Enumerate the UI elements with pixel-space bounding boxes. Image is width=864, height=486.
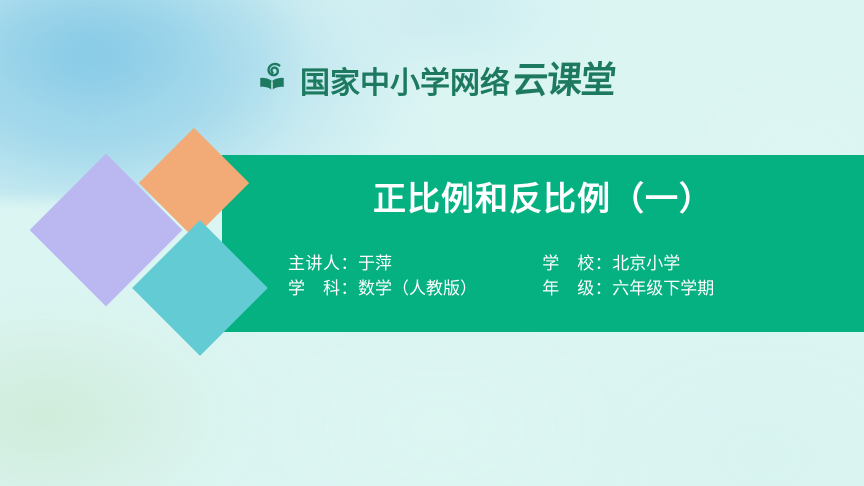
logo-text-script: 云课堂 [511,50,618,104]
book-wave-icon [253,59,291,97]
watercolor-wash-top-left-accent [0,0,290,150]
logo-text-main: 国家中小学网络 [300,58,510,102]
title-banner [222,155,864,332]
lesson-title-slide: 国家中小学网络 云课堂 正比例和反比例（一） 主讲人：于萍 学 校：北京小学 学… [0,0,864,486]
watercolor-wash-bottom-middle [250,346,630,486]
watercolor-wash-bottom-right [584,336,864,486]
platform-logo: 国家中小学网络 云课堂 [253,55,613,101]
platform-logo-text: 国家中小学网络 云课堂 [300,53,613,104]
